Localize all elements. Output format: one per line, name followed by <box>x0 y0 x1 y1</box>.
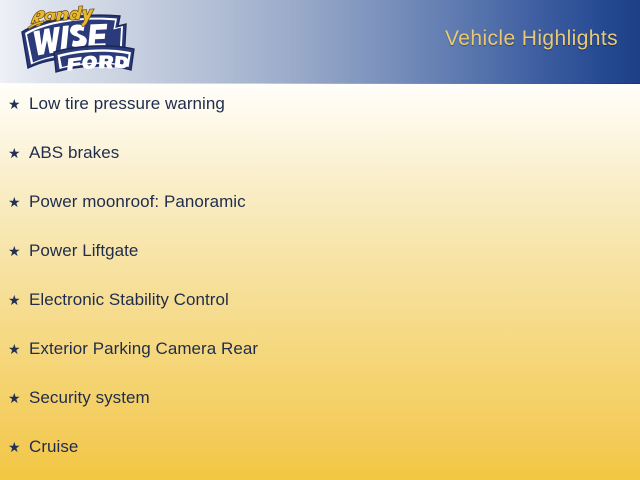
vehicle-highlights-list: ★Low tire pressure warning★ABS brakes★Po… <box>0 84 640 480</box>
highlight-item: ★Power Liftgate <box>0 242 640 291</box>
highlight-label: Electronic Stability Control <box>29 291 229 308</box>
highlight-label: ABS brakes <box>29 144 119 161</box>
randy-wise-ford-logo[interactable] <box>8 2 144 82</box>
highlights-panel: ★Low tire pressure warning★ABS brakes★Po… <box>0 84 640 480</box>
highlight-item: ★Exterior Parking Camera Rear <box>0 340 640 389</box>
page-title: Vehicle Highlights <box>445 27 618 51</box>
highlight-item: ★Electronic Stability Control <box>0 291 640 340</box>
star-bullet-icon: ★ <box>8 440 29 454</box>
vehicle-highlights-page: Vehicle Highlights ★Low tire pressure wa… <box>0 0 640 480</box>
highlight-label: Power Liftgate <box>29 242 138 259</box>
star-bullet-icon: ★ <box>8 97 29 111</box>
highlight-item: ★Power moonroof: Panoramic <box>0 193 640 242</box>
highlight-label: Power moonroof: Panoramic <box>29 193 246 210</box>
highlight-label: Cruise <box>29 438 78 455</box>
highlight-label: Exterior Parking Camera Rear <box>29 340 258 357</box>
highlight-item: ★Security system <box>0 389 640 438</box>
star-bullet-icon: ★ <box>8 244 29 258</box>
star-bullet-icon: ★ <box>8 293 29 307</box>
page-header: Vehicle Highlights <box>0 0 640 84</box>
highlight-item: ★Low tire pressure warning <box>0 95 640 144</box>
highlight-item: ★Cruise <box>0 438 640 480</box>
highlight-label: Low tire pressure warning <box>29 95 225 112</box>
star-bullet-icon: ★ <box>8 146 29 160</box>
highlight-item: ★ABS brakes <box>0 144 640 193</box>
star-bullet-icon: ★ <box>8 195 29 209</box>
star-bullet-icon: ★ <box>8 391 29 405</box>
star-bullet-icon: ★ <box>8 342 29 356</box>
logo-ford-banner <box>54 46 134 72</box>
highlight-label: Security system <box>29 389 150 406</box>
